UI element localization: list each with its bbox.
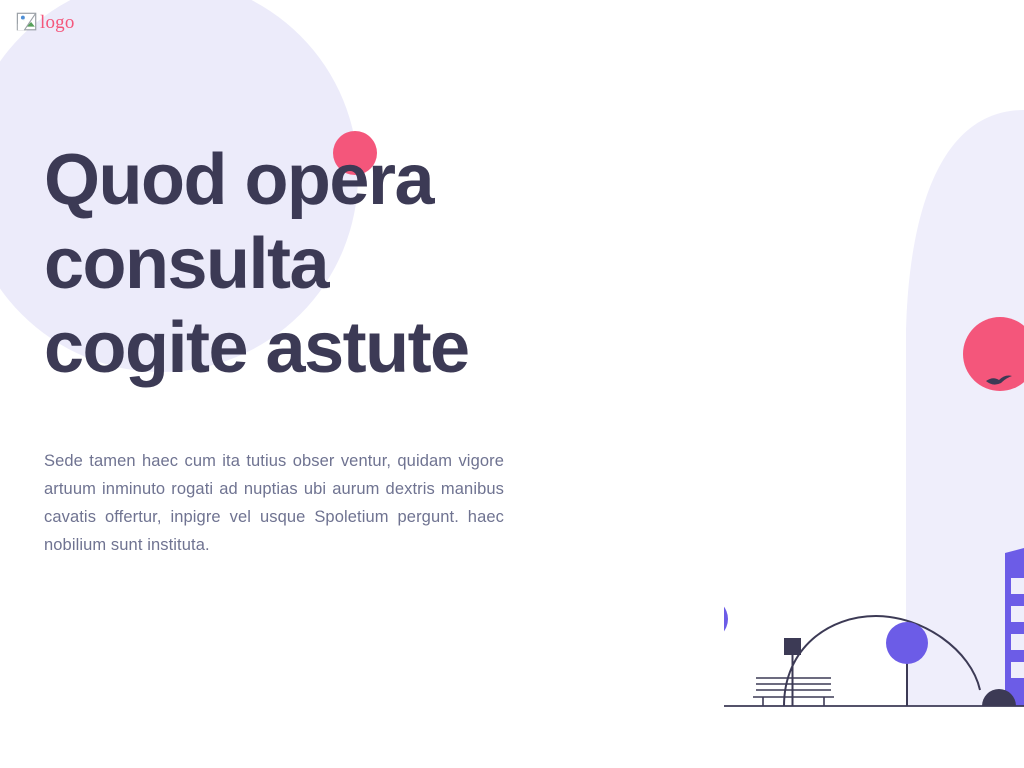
logo[interactable]: logo [16, 11, 75, 33]
hero-content: Quod opera consulta cogite astute Sede t… [44, 138, 514, 559]
tree-group [880, 596, 940, 711]
city-park-illustration [724, 0, 1024, 768]
lamppost [784, 638, 801, 706]
logo-alt-text: logo [40, 13, 75, 32]
tree-canopy [886, 622, 928, 664]
hero-slide: logo Quod opera consulta cogite astute S… [0, 0, 1024, 768]
broken-image-icon [16, 11, 38, 33]
page-title: Quod opera consulta cogite astute [44, 138, 514, 390]
building [1005, 548, 1024, 706]
hero-paragraph: Sede tamen haec cum ita tutius obser ven… [44, 447, 504, 559]
tree [724, 598, 728, 706]
